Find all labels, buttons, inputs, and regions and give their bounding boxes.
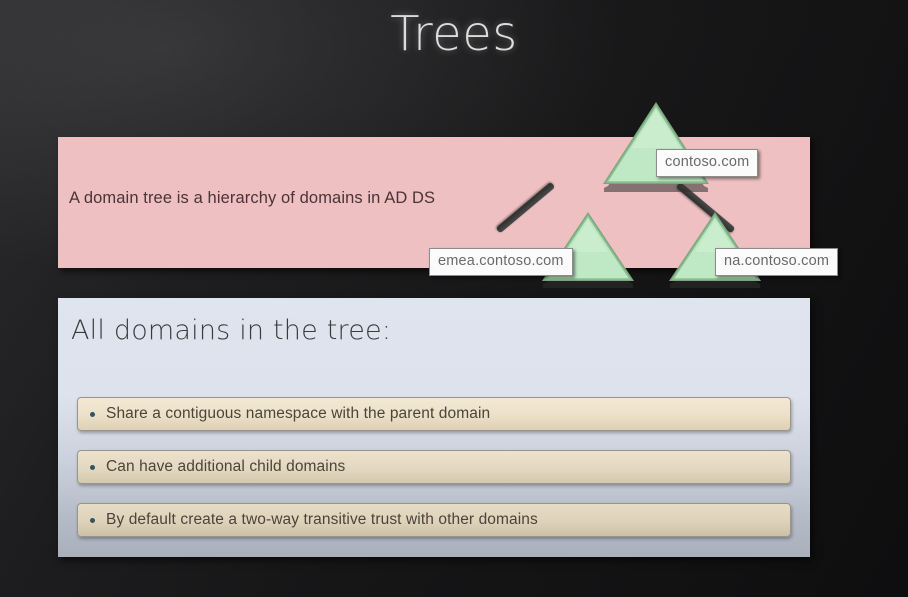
domain-label-emea[interactable]: emea.contoso.com [429,248,573,276]
list-item-label: Share a contiguous namespace with the pa… [106,405,490,423]
domain-label-root[interactable]: contoso.com [656,149,758,177]
presentation-slide: Trees A domain tree is a hierarchy of do… [0,0,908,597]
domain-tree-diagram: contoso.com emea.contoso.com na.contoso.… [420,96,890,296]
list-item[interactable]: By default create a two-way transitive t… [77,503,791,537]
triangle-icon [596,96,716,194]
list-item[interactable]: Can have additional child domains [77,450,791,484]
bullet-list: Share a contiguous namespace with the pa… [77,397,791,556]
domain-node-root[interactable] [596,96,716,194]
content-panel: All domains in the tree: Share a contigu… [58,298,810,557]
definition-text: A domain tree is a hierarchy of domains … [69,189,435,208]
slide-title: Trees [0,6,908,62]
list-item-label: Can have additional child domains [106,458,345,476]
bullet-dot-icon [90,518,95,523]
list-item[interactable]: Share a contiguous namespace with the pa… [77,397,791,431]
domain-label-na[interactable]: na.contoso.com [715,248,838,276]
list-item-label: By default create a two-way transitive t… [106,511,538,529]
bullet-dot-icon [90,465,95,470]
panel-heading: All domains in the tree: [71,315,391,346]
bullet-dot-icon [90,412,95,417]
